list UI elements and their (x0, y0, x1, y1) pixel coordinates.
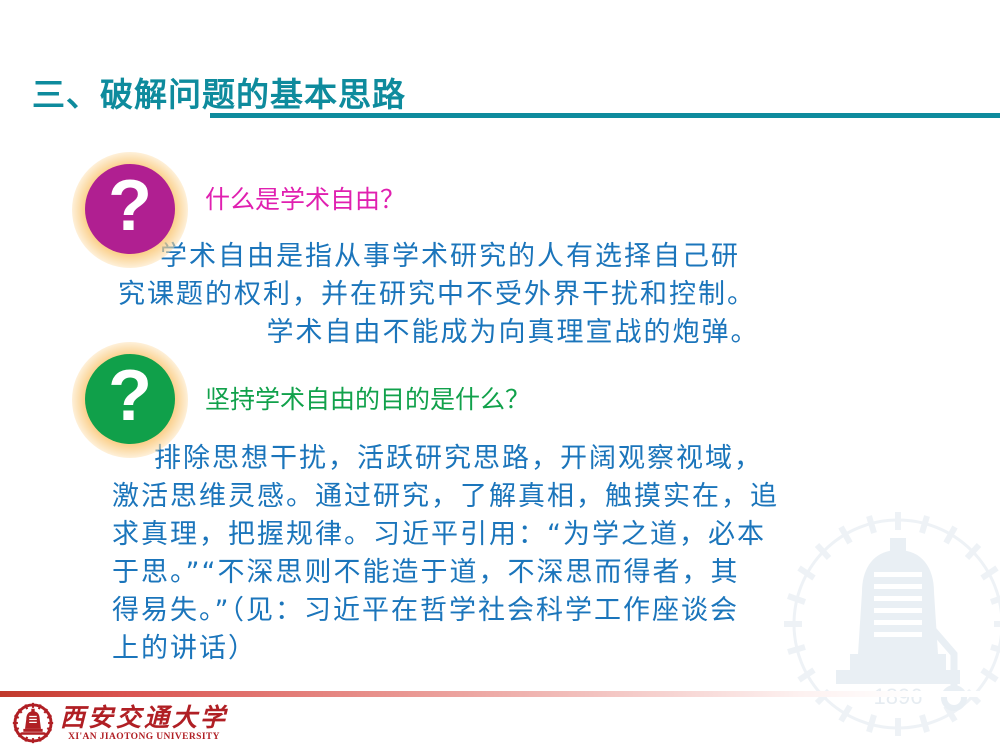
university-wordmark: 西安交通大学 XI'AN JIAOTONG UNIVERSITY (60, 704, 228, 743)
university-name-en: XI'AN JIAOTONG UNIVERSITY (60, 731, 228, 743)
answer-paragraph-2: 排除思想干扰，活跃研究思路，开阔观察视域， 激活思维灵感。通过研究，了解真相，触… (112, 440, 912, 668)
answer-1-line-1: 学术自由是指从事学术研究的人有选择自己研 (118, 238, 908, 276)
question-mark-glyph-1: ? (85, 164, 175, 254)
title-underline-rule (210, 113, 1000, 118)
answer-2-line-4: 于思。”“不深思则不能造于道，不深思而得者，其 (112, 554, 912, 592)
slide-canvas: 1896 三、破解问题的基本思路 ? 什么是学术自由？ 学术自由是指从事学术研究… (0, 0, 1000, 750)
question-mark-icon-2: ? (72, 342, 188, 458)
answer-2-line-6: 上的讲话） (112, 630, 912, 668)
answer-1-line-3: 学术自由不能成为向真理宣战的炮弹。 (118, 314, 908, 352)
answer-2-line-2: 激活思维灵感。通过研究，了解真相，触摸实在，追 (112, 478, 912, 516)
question-mark-glyph-2: ? (85, 354, 175, 444)
university-logo: 西安交通大学 XI'AN JIAOTONG UNIVERSITY (12, 700, 228, 746)
answer-paragraph-1: 学术自由是指从事学术研究的人有选择自己研 究课题的权利，并在研究中不受外界干扰和… (118, 238, 908, 352)
slide-title-row: 三、破解问题的基本思路 (0, 74, 1000, 124)
answer-2-line-3: 求真理，把握规律。习近平引用：“为学之道，必本 (112, 516, 912, 554)
question-heading-2: 坚持学术自由的目的是什么？ (205, 380, 530, 416)
page-title: 三、破解问题的基本思路 (32, 74, 406, 116)
answer-2-line-1: 排除思想干扰，活跃研究思路，开阔观察视域， (112, 440, 912, 478)
question-mark-icon-1: ? (72, 152, 188, 268)
question-heading-1: 什么是学术自由？ (205, 180, 405, 216)
answer-2-line-5: 得易失。”（见：习近平在哲学社会科学工作座谈会 (112, 592, 912, 630)
university-name-cn: 西安交通大学 (60, 704, 228, 731)
xjtu-bell-gear-icon (12, 702, 54, 744)
answer-1-line-2: 究课题的权利，并在研究中不受外界干扰和控制。 (118, 276, 908, 314)
footer-divider-rule (0, 691, 1000, 697)
